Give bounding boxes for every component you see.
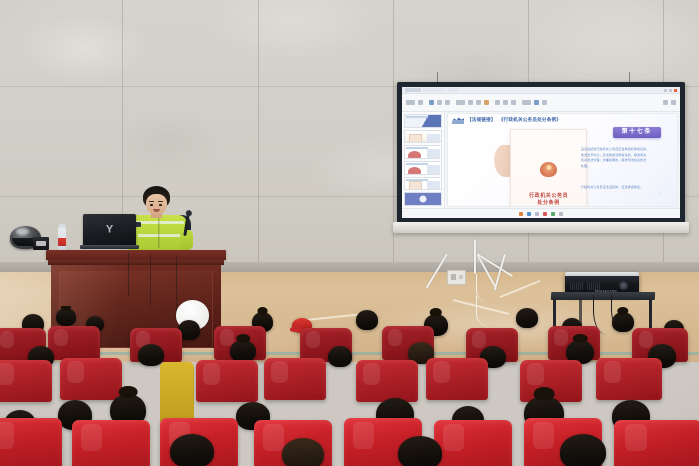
- laptop-lid: Y: [83, 214, 136, 245]
- eye-right: [159, 204, 162, 206]
- editor-body: 【法规链接】 《行政机关公务员处分条例》 行政机关公务员 处分条例 中国法制出版…: [402, 112, 680, 208]
- audience-head: [516, 308, 538, 328]
- slide-thumbnail[interactable]: [404, 177, 442, 191]
- laptop-base: [80, 245, 139, 249]
- auditorium-seat: [0, 360, 52, 402]
- slide-header: 【法规链接】 《行政机关公务员处分条例》: [452, 117, 673, 124]
- eye-left: [150, 204, 153, 206]
- ribbon-toolbar: [402, 94, 680, 112]
- shape-outline-icon[interactable]: [542, 100, 547, 105]
- audience-head: [56, 308, 76, 326]
- audience-head: [230, 340, 256, 362]
- national-emblem-icon: [540, 162, 557, 177]
- slide-paragraph-2: 行政机关公务员违法违纪的，应当承担责任。: [581, 185, 663, 191]
- audience-head: [138, 344, 164, 366]
- window-controls: [664, 89, 677, 92]
- water-bottle: [58, 227, 66, 250]
- auditorium-seat: [196, 360, 258, 402]
- mountain-logo-icon: [452, 117, 464, 124]
- laptop[interactable]: Y: [83, 214, 136, 249]
- font-family-icon[interactable]: [456, 100, 465, 105]
- slide-thumbnail[interactable]: [404, 145, 442, 159]
- slide-header-bracket: 【法规链接】: [467, 118, 496, 123]
- law-booklet-image: 行政机关公务员 处分条例 中国法制出版社: [510, 129, 588, 207]
- bottle-label: [58, 238, 66, 246]
- helmet-highlight: [16, 228, 29, 235]
- paste-icon[interactable]: [406, 100, 415, 105]
- ribbon-group-clipboard[interactable]: [406, 100, 423, 105]
- eyebrow-left: [149, 201, 154, 202]
- equipment-case: [33, 237, 49, 250]
- app-tab[interactable]: [447, 88, 459, 92]
- eyebrow-right: [158, 201, 163, 202]
- new-slide-icon[interactable]: [429, 100, 434, 105]
- italic-icon[interactable]: [476, 100, 481, 105]
- article-number-badge: 第十七条: [613, 127, 661, 138]
- audience-head: [356, 310, 378, 330]
- auditorium-seat: [60, 358, 122, 400]
- projector-lens-icon: [619, 281, 628, 290]
- slide-header-title: 《行政机关公务员处分条例》: [499, 118, 561, 123]
- select-icon[interactable]: [671, 100, 676, 105]
- audience-yellow-jacket: [160, 362, 194, 422]
- wall-seam: [258, 0, 259, 272]
- zoom-in-icon[interactable]: [559, 212, 563, 216]
- ribbon-group-slides[interactable]: [429, 100, 450, 105]
- auditorium-seat: [596, 358, 662, 400]
- audience-seating: [0, 306, 699, 466]
- tripod-stand: [452, 240, 524, 298]
- status-bar: [402, 208, 680, 218]
- screen-bottom-bar: [393, 222, 689, 233]
- auditorium-seat: [48, 326, 100, 360]
- minimize-icon[interactable]: [664, 89, 667, 92]
- close-icon[interactable]: [674, 89, 677, 92]
- quote-close-icon: ”: [659, 194, 661, 199]
- align-left-icon[interactable]: [495, 100, 500, 105]
- audience-head: [170, 434, 214, 466]
- jacket-zipper: [158, 218, 159, 248]
- app-title-bar: [402, 87, 680, 94]
- paragraph-line: 行政机关公务员违法违纪的，应当承担责任。: [581, 185, 663, 191]
- projection-screen-surface: 【法规链接】 《行政机关公务员处分条例》 行政机关公务员 处分条例 中国法制出版…: [402, 87, 680, 218]
- auditorium-seat: [264, 358, 326, 400]
- reset-icon[interactable]: [445, 100, 450, 105]
- app-tab[interactable]: [423, 88, 445, 92]
- laptop-logo: Y: [106, 225, 113, 236]
- audience-head: [282, 438, 324, 466]
- auditorium-seat: [614, 420, 699, 466]
- current-slide[interactable]: 【法规链接】 《行政机关公务员处分条例》 行政机关公务员 处分条例 中国法制出版…: [447, 113, 678, 207]
- audience-head: [612, 312, 634, 332]
- face: [146, 194, 167, 215]
- auditorium-seat: [426, 358, 488, 400]
- projector-vent-icon: [570, 282, 583, 290]
- slideshow-icon[interactable]: [543, 212, 547, 216]
- projection-screen-assembly: 【法规链接】 《行政机关公务员处分条例》 行政机关公务员 处分条例 中国法制出版…: [397, 82, 685, 242]
- view-normal-icon[interactable]: [519, 212, 523, 216]
- slide-canvas-area[interactable]: 【法规链接】 《行政机关公务员处分条例》 行政机关公务员 处分条例 中国法制出版…: [445, 112, 680, 208]
- ribbon-group-paragraph[interactable]: [495, 100, 516, 105]
- font-color-icon[interactable]: [484, 100, 489, 105]
- view-reading-icon[interactable]: [535, 212, 539, 216]
- align-center-icon[interactable]: [503, 100, 508, 105]
- audience-head: [398, 436, 442, 466]
- auditorium-lecture-photo: 【法规链接】 《行政机关公务员处分条例》 行政机关公务员 处分条例 中国法制出版…: [0, 0, 699, 466]
- projection-screen-frame: 【法规链接】 《行政机关公务员处分条例》 行政机关公务员 处分条例 中国法制出版…: [397, 82, 685, 223]
- ribbon-group-editing[interactable]: [663, 100, 676, 105]
- shapes-icon[interactable]: [522, 100, 531, 105]
- bullets-icon[interactable]: [511, 100, 516, 105]
- cut-icon[interactable]: [418, 100, 423, 105]
- slide-thumbnail[interactable]: [404, 192, 442, 206]
- slide-application-window: 【法规链接】 《行政机关公务员处分条例》 行政机关公务员 处分条例 中国法制出版…: [402, 87, 680, 218]
- maximize-icon[interactable]: [669, 89, 672, 92]
- auditorium-seat: [0, 418, 62, 466]
- audience-head: [560, 434, 606, 466]
- layout-icon[interactable]: [437, 100, 442, 105]
- tripod-mast: [474, 240, 476, 274]
- zoom-out-icon[interactable]: [551, 212, 555, 216]
- view-sorter-icon[interactable]: [527, 212, 531, 216]
- auditorium-seat: [434, 420, 512, 466]
- microphone-head-icon: [185, 210, 192, 217]
- booklet-title-line2: 处分条例: [537, 200, 559, 206]
- slide-thumbnail[interactable]: [404, 114, 442, 128]
- shape-fill-icon[interactable]: [534, 100, 539, 105]
- ribbon-group-font[interactable]: [456, 100, 489, 105]
- ribbon-group-drawing[interactable]: [522, 100, 547, 105]
- app-tab[interactable]: [405, 88, 421, 92]
- mouth: [153, 209, 160, 212]
- bold-icon[interactable]: [468, 100, 473, 105]
- slide-thumbnail-panel[interactable]: [402, 112, 445, 208]
- slide-thumbnail[interactable]: [404, 130, 442, 144]
- slide-paragraph-1: 违法违纪的行政机关公务员应当承担纪律责任的， 依法给予处分；应当承担法律责任的，…: [581, 147, 663, 169]
- slide-thumbnail[interactable]: [404, 161, 442, 175]
- find-icon[interactable]: [663, 100, 668, 105]
- quote-open-icon: “: [609, 142, 611, 147]
- paragraph-line: 处理。: [581, 164, 663, 170]
- audience-head: [328, 346, 352, 367]
- bottle-cap: [59, 224, 65, 228]
- auditorium-seat: [72, 420, 150, 466]
- auditorium-seat: [356, 360, 418, 402]
